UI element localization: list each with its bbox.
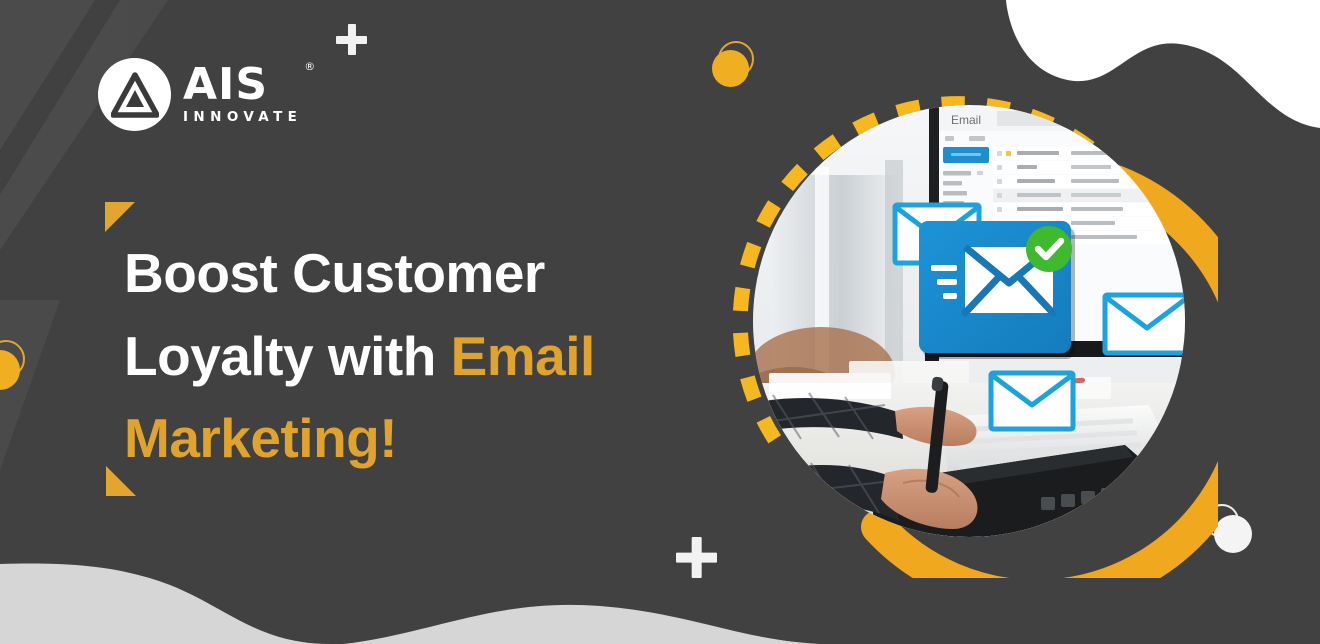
headline-line-3-accent: Marketing!: [124, 407, 397, 469]
photo-circle: Email: [753, 105, 1185, 537]
gold-circle-ornament-icon: [0, 340, 32, 390]
registered-mark: ®: [304, 62, 315, 72]
svg-text:Email: Email: [951, 113, 981, 127]
plus-icon: [336, 24, 367, 55]
photo-semantics: Email Compose person-at-desk-with-stylus…: [0, 0, 1, 1]
plus-icon: [676, 537, 717, 578]
logo-tagline: INNOVATE: [183, 109, 302, 125]
headline-line-1: Boost Customer: [124, 242, 545, 304]
headline-line-2-plain: Loyalty with: [124, 325, 451, 387]
hero-photo-composition: Email: [718, 78, 1218, 578]
gold-triangle-icon: [105, 202, 135, 232]
brand-logo[interactable]: AIS ® INNOVATE: [98, 58, 302, 131]
logo-wordmark: AIS ® INNOVATE: [183, 64, 302, 125]
email-marketing-banner: AIS ® INNOVATE Boost Customer Loyalty wi…: [0, 0, 1320, 644]
page-title: Boost Customer Loyalty with Email Market…: [124, 232, 724, 480]
email-app-title: Email: [0, 0, 1, 1]
logo-word-text: AIS: [183, 59, 268, 110]
ais-triangle-mark: [98, 58, 171, 131]
wave-bottom-left: [0, 564, 330, 644]
headline-line-2-accent: Email: [451, 325, 595, 387]
logo-word: AIS ®: [183, 64, 302, 106]
check-badge-icon: [1026, 226, 1072, 272]
email-sent-card: [919, 221, 1075, 359]
